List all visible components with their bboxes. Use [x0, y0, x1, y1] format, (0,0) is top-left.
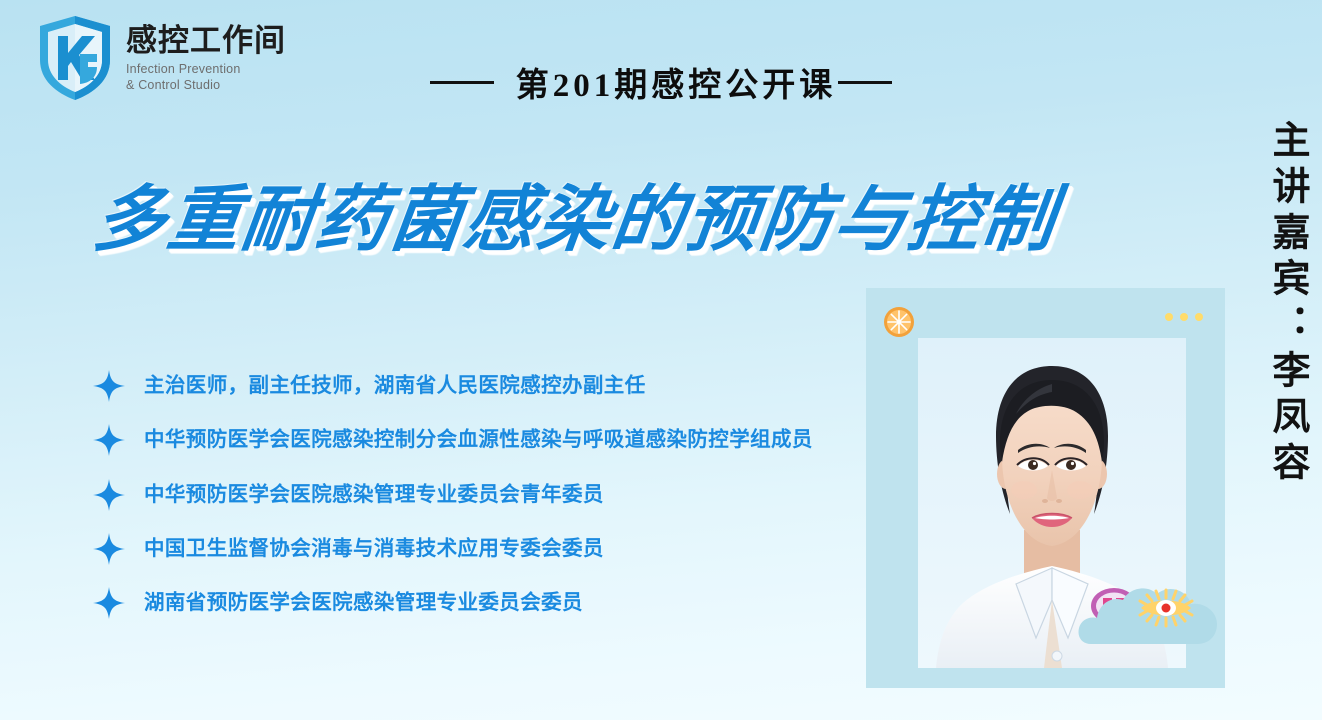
- episode-banner: 第201期感控公开课: [0, 58, 1322, 106]
- brand-name-cn: 感控工作间: [126, 25, 286, 58]
- banner-rule-right: [838, 81, 892, 84]
- four-point-star-icon: [92, 369, 126, 403]
- dot-3: [1195, 313, 1203, 321]
- list-item-label: 主治医师，副主任技师，湖南省人民医院感控办副主任: [144, 368, 646, 403]
- dot-2: [1180, 313, 1188, 321]
- list-item: 中华预防医学会医院感染控制分会血源性感染与呼吸道感染防控学组成员: [92, 422, 852, 457]
- list-item-label: 湖南省预防医学会医院感染管理专业委员会委员: [144, 585, 583, 620]
- list-item-label: 中华预防医学会医院感染管理专业委员会青年委员: [144, 477, 604, 512]
- list-item: 中华预防医学会医院感染管理专业委员会青年委员: [92, 477, 852, 512]
- speaker-photo-card: [866, 288, 1225, 688]
- banner-title: 第201期感控公开课: [516, 58, 837, 106]
- four-point-star-icon: [92, 423, 126, 457]
- four-point-star-icon: [92, 586, 126, 620]
- list-item: 湖南省预防医学会医院感染管理专业委员会委员: [92, 585, 852, 620]
- four-point-star-icon: [92, 532, 126, 566]
- speaker-vertical-label: 主讲嘉宾：李凤容: [1268, 120, 1306, 540]
- decorative-eye-icon: [1135, 586, 1197, 630]
- page-title: 多重耐药菌感染的预防与控制: [89, 160, 1064, 265]
- speaker-bio-list: 主治医师，副主任技师，湖南省人民医院感控办副主任 中华预防医学会医院感染控制分会…: [92, 368, 852, 639]
- banner-rule-left: [430, 81, 494, 84]
- three-dots-decoration: [1165, 313, 1203, 321]
- list-item: 中国卫生监督协会消毒与消毒技术应用专委会委员: [92, 531, 852, 566]
- dot-1: [1165, 313, 1173, 321]
- list-item: 主治医师，副主任技师，湖南省人民医院感控办副主任: [92, 368, 852, 403]
- orange-slice-icon: [883, 306, 915, 338]
- list-item-label: 中华预防医学会医院感染控制分会血源性感染与呼吸道感染防控学组成员: [144, 422, 813, 457]
- four-point-star-icon: [92, 478, 126, 512]
- list-item-label: 中国卫生监督协会消毒与消毒技术应用专委会委员: [144, 531, 604, 566]
